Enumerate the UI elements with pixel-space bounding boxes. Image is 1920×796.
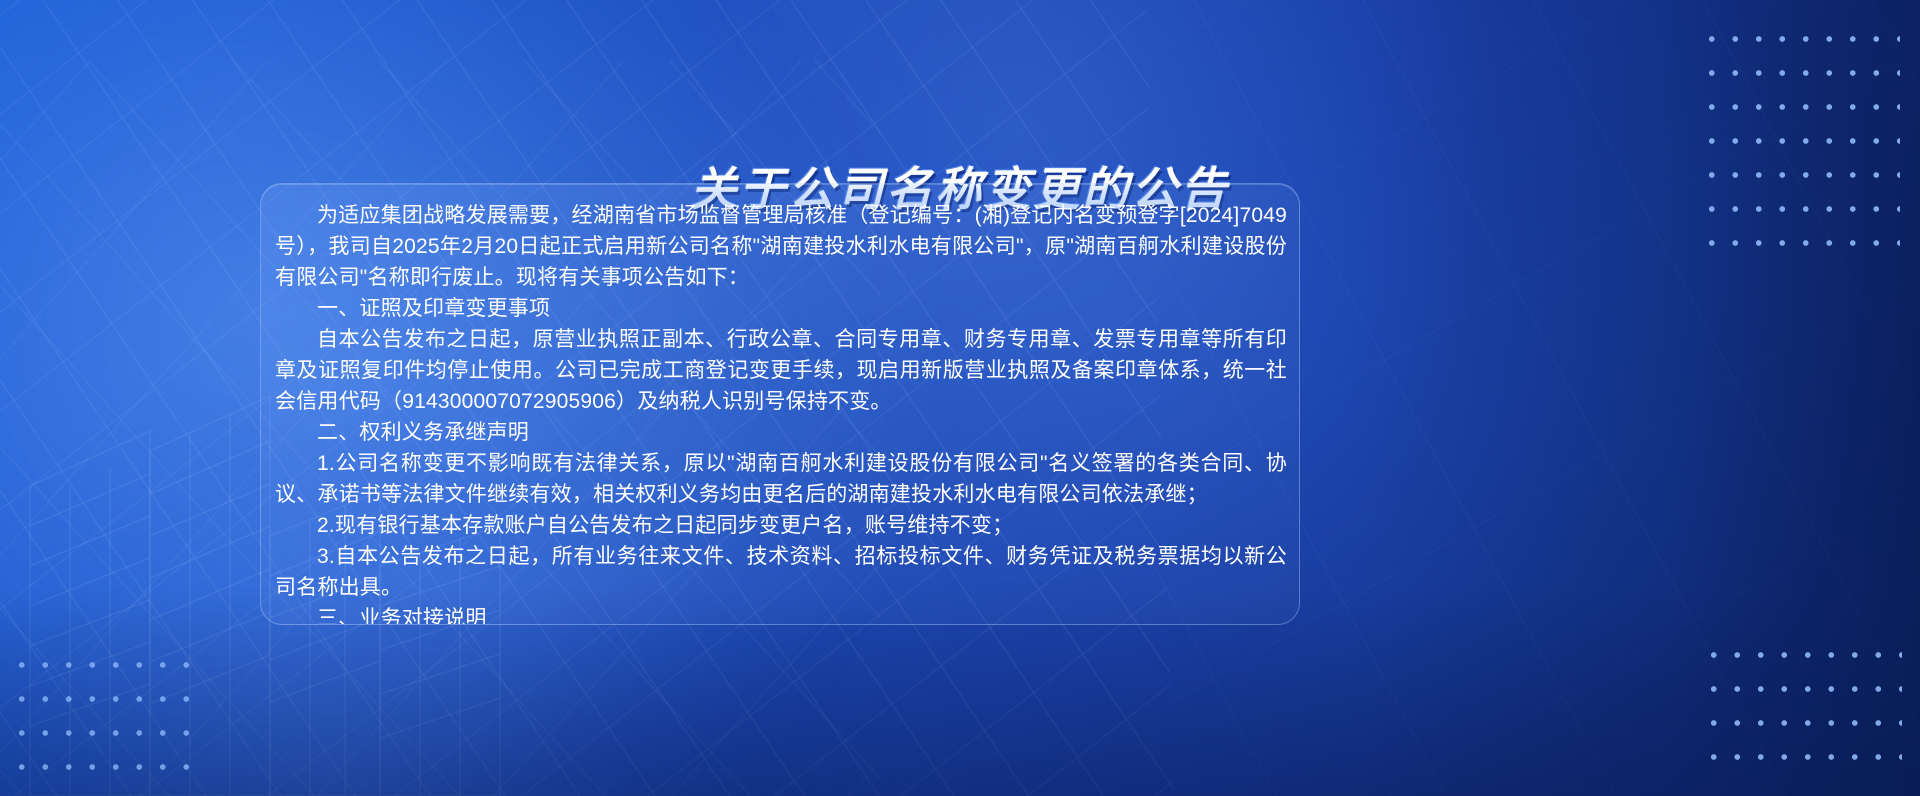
right-vignette xyxy=(1360,0,1920,796)
section-heading-one: 一、证照及印章变更事项 xyxy=(275,293,1287,324)
paragraph-rights-3: 3.自本公告发布之日起，所有业务往来文件、技术资料、招标投标文件、财务凭证及税务… xyxy=(275,541,1287,603)
announcement-poster: 关于公司名称变更的公告 为适应集团战略发展需要，经湖南省市场监督管理局核准（登记… xyxy=(0,0,1920,796)
paragraph-seals: 自本公告发布之日起，原营业执照正副本、行政公章、合同专用章、财务专用章、发票专用… xyxy=(275,324,1287,417)
paragraph-rights-2: 2.现有银行基本存款账户自公告发布之日起同步变更户名，账号维持不变； xyxy=(275,510,1287,541)
dot-grid-bottom-left xyxy=(10,648,190,788)
announcement-card: 为适应集团战略发展需要，经湖南省市场监督管理局核准（登记编号：(湘)登记内名变预… xyxy=(260,183,1300,625)
paragraph-intro: 为适应集团战略发展需要，经湖南省市场监督管理局核准（登记编号：(湘)登记内名变预… xyxy=(275,200,1287,293)
dot-grid-bottom-right xyxy=(1702,638,1902,778)
paragraph-rights-1: 1.公司名称变更不影响既有法律关系，原以"湖南百舸水利建设股份有限公司"名义签署… xyxy=(275,448,1287,510)
announcement-body: 为适应集团战略发展需要，经湖南省市场监督管理局核准（登记编号：(湘)登记内名变预… xyxy=(261,184,1299,625)
section-heading-three: 三、业务对接说明 xyxy=(275,603,1287,625)
section-heading-two: 二、权利义务承继声明 xyxy=(275,417,1287,448)
